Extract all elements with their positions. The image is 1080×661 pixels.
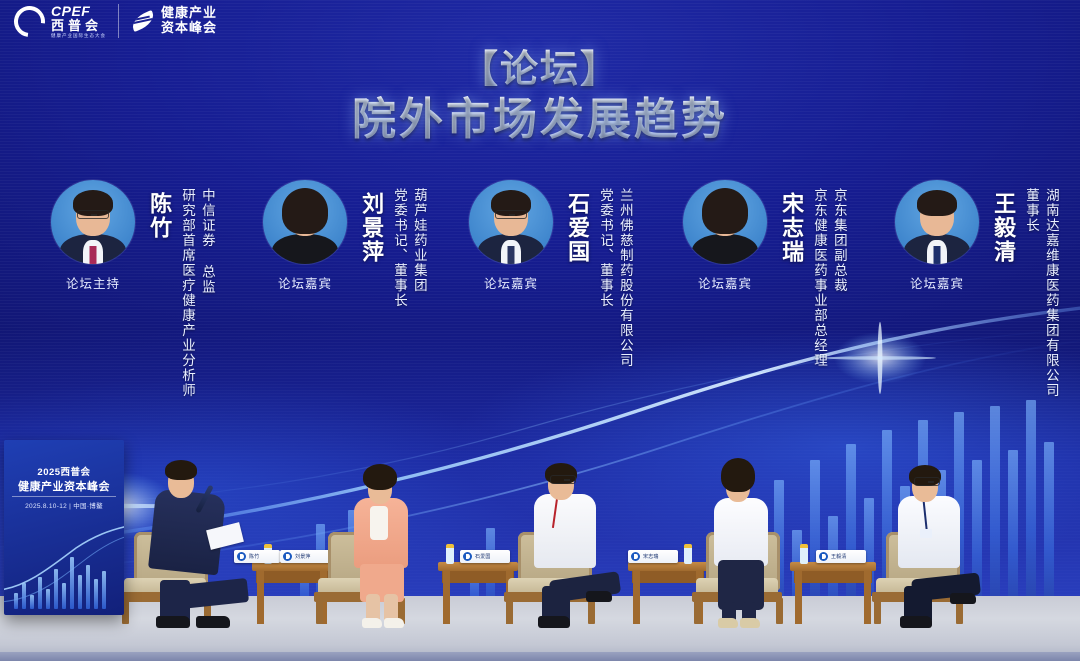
nameplate-text: 宋志瑞	[643, 553, 659, 560]
panel-seating-row: 陈竹 刘景萍	[0, 415, 1080, 630]
podium-line2: 健康产业资本峰会	[8, 478, 120, 494]
event-logo-bar: CPEF 西普会 健康产业国际生态大会 健康产业 资本峰会	[14, 4, 217, 39]
speaker-name: 刘景萍	[360, 192, 383, 264]
cpef-logo: CPEF 西普会 健康产业国际生态大会	[14, 4, 106, 39]
summit-logo-line2: 资本峰会	[161, 21, 217, 36]
podium-line3: 2025.8.10-12 | 中国·博鳌	[8, 500, 120, 510]
speaker-title-line2: 董事长	[1022, 188, 1039, 398]
water-bottle	[684, 544, 692, 564]
summit-logo-line1: 健康产业	[161, 6, 217, 21]
speaker-title-line1: 湖南达嘉维康医药集团有限公司	[1042, 188, 1059, 398]
avatar	[683, 180, 767, 264]
speaker-card-wang-yiqing: 论坛嘉宾 王毅清 湖南达嘉维康医药集团有限公司 董事长	[884, 180, 1059, 398]
conference-stage-photo: CPEF 西普会 健康产业国际生态大会 健康产业 资本峰会 【论坛】 院外市场发…	[0, 0, 1080, 661]
health-capital-summit-logo: 健康产业 资本峰会	[131, 6, 217, 36]
panelist-liu-jingping	[344, 444, 444, 624]
nameplate-text: 刘景萍	[295, 553, 311, 560]
speaker-title-line2: 党委书记、董事长	[390, 188, 407, 308]
panelist-shi-aiguo	[524, 444, 634, 624]
speaker-title-line2: 京东健康医药事业部总经理	[810, 188, 827, 368]
nameplate-logo-icon	[631, 552, 640, 561]
speaker-title-line1: 兰州佛慈制药股份有限公司	[616, 188, 633, 368]
nameplate-logo-icon	[819, 552, 828, 561]
avatar	[469, 180, 553, 264]
speaker-role-label: 论坛主持	[66, 273, 120, 292]
speaker-title-line1: 中信证券 总监	[198, 188, 215, 398]
speaker-title-line2: 研究部首席医疗健康产业分析师	[178, 188, 195, 398]
speaker-title-line1: 京东集团副总裁	[830, 188, 847, 368]
logo-divider	[118, 4, 119, 38]
water-bottle	[446, 544, 454, 564]
speaker-role-label: 论坛嘉宾	[910, 273, 964, 292]
nameplate: 王毅清	[816, 550, 866, 563]
stage-edge	[0, 652, 1080, 661]
cpef-logo-en: CPEF	[51, 4, 106, 18]
panelist-moderator	[142, 444, 262, 624]
speaker-lineup: 论坛主持 陈竹 中信证券 总监 研究部首席医疗健康产业分析师 论坛嘉宾 刘景萍 …	[0, 180, 1080, 420]
cpef-logo-sub: 健康产业国际生态大会	[51, 34, 106, 39]
forum-title-block: 【论坛】 院外市场发展趋势	[0, 48, 1080, 146]
event-badge	[920, 529, 932, 538]
nameplate: 宋志瑞	[628, 550, 678, 563]
cpef-ring-icon	[8, 0, 52, 43]
nameplate-text: 王毅清	[831, 553, 847, 560]
nameplate-logo-icon	[237, 552, 246, 561]
panelist-wang-yiqing	[888, 444, 998, 624]
avatar	[51, 180, 135, 264]
avatar	[263, 180, 347, 264]
nameplate-text: 石爱国	[475, 553, 491, 560]
nameplate-logo-icon	[463, 552, 472, 561]
speaker-name: 石爱国	[566, 192, 589, 264]
side-table: 王毅清	[790, 562, 876, 624]
nameplate: 陈竹	[234, 550, 280, 563]
podium-chart-graphic	[4, 520, 124, 615]
cpef-logo-cn: 西普会	[51, 19, 106, 32]
speaker-role-label: 论坛嘉宾	[278, 273, 332, 292]
speaker-card-shi-aiguo: 论坛嘉宾 石爱国 兰州佛慈制药股份有限公司 党委书记、董事长	[458, 180, 633, 368]
speaker-title-line2: 党委书记、董事长	[596, 188, 613, 368]
speaker-card-song-zhirui: 论坛嘉宾 宋志瑞 京东集团副总裁 京东健康医药事业部总经理	[672, 180, 847, 368]
speaker-name: 陈竹	[148, 192, 171, 240]
podium-line1: 2025西普会	[10, 464, 118, 478]
speaker-title-line1: 葫芦娃药业集团	[410, 188, 427, 308]
avatar	[895, 180, 979, 264]
speaker-card-liu-jingping: 论坛嘉宾 刘景萍 葫芦娃药业集团 党委书记、董事长	[252, 180, 427, 308]
speaker-role-label: 论坛嘉宾	[484, 273, 538, 292]
nameplate: 石爱国	[460, 550, 510, 563]
speaker-name: 宋志瑞	[780, 192, 803, 264]
nameplate-text: 陈竹	[249, 553, 259, 560]
forum-title-line2: 院外市场发展趋势	[0, 94, 1080, 146]
speaker-card-chen-zhu: 论坛主持 陈竹 中信证券 总监 研究部首席医疗健康产业分析师	[40, 180, 215, 398]
nameplate-logo-icon	[283, 552, 292, 561]
leaf-icon	[129, 10, 156, 32]
podium-banner: 2025西普会 健康产业资本峰会 2025.8.10-12 | 中国·博鳌	[4, 440, 124, 615]
forum-title-line1: 【论坛】	[0, 48, 1080, 92]
panelist-song-zhirui	[704, 444, 804, 624]
speaker-role-label: 论坛嘉宾	[698, 273, 752, 292]
water-bottle	[800, 544, 808, 564]
podium-divider	[12, 496, 116, 497]
speaker-name: 王毅清	[992, 192, 1015, 264]
